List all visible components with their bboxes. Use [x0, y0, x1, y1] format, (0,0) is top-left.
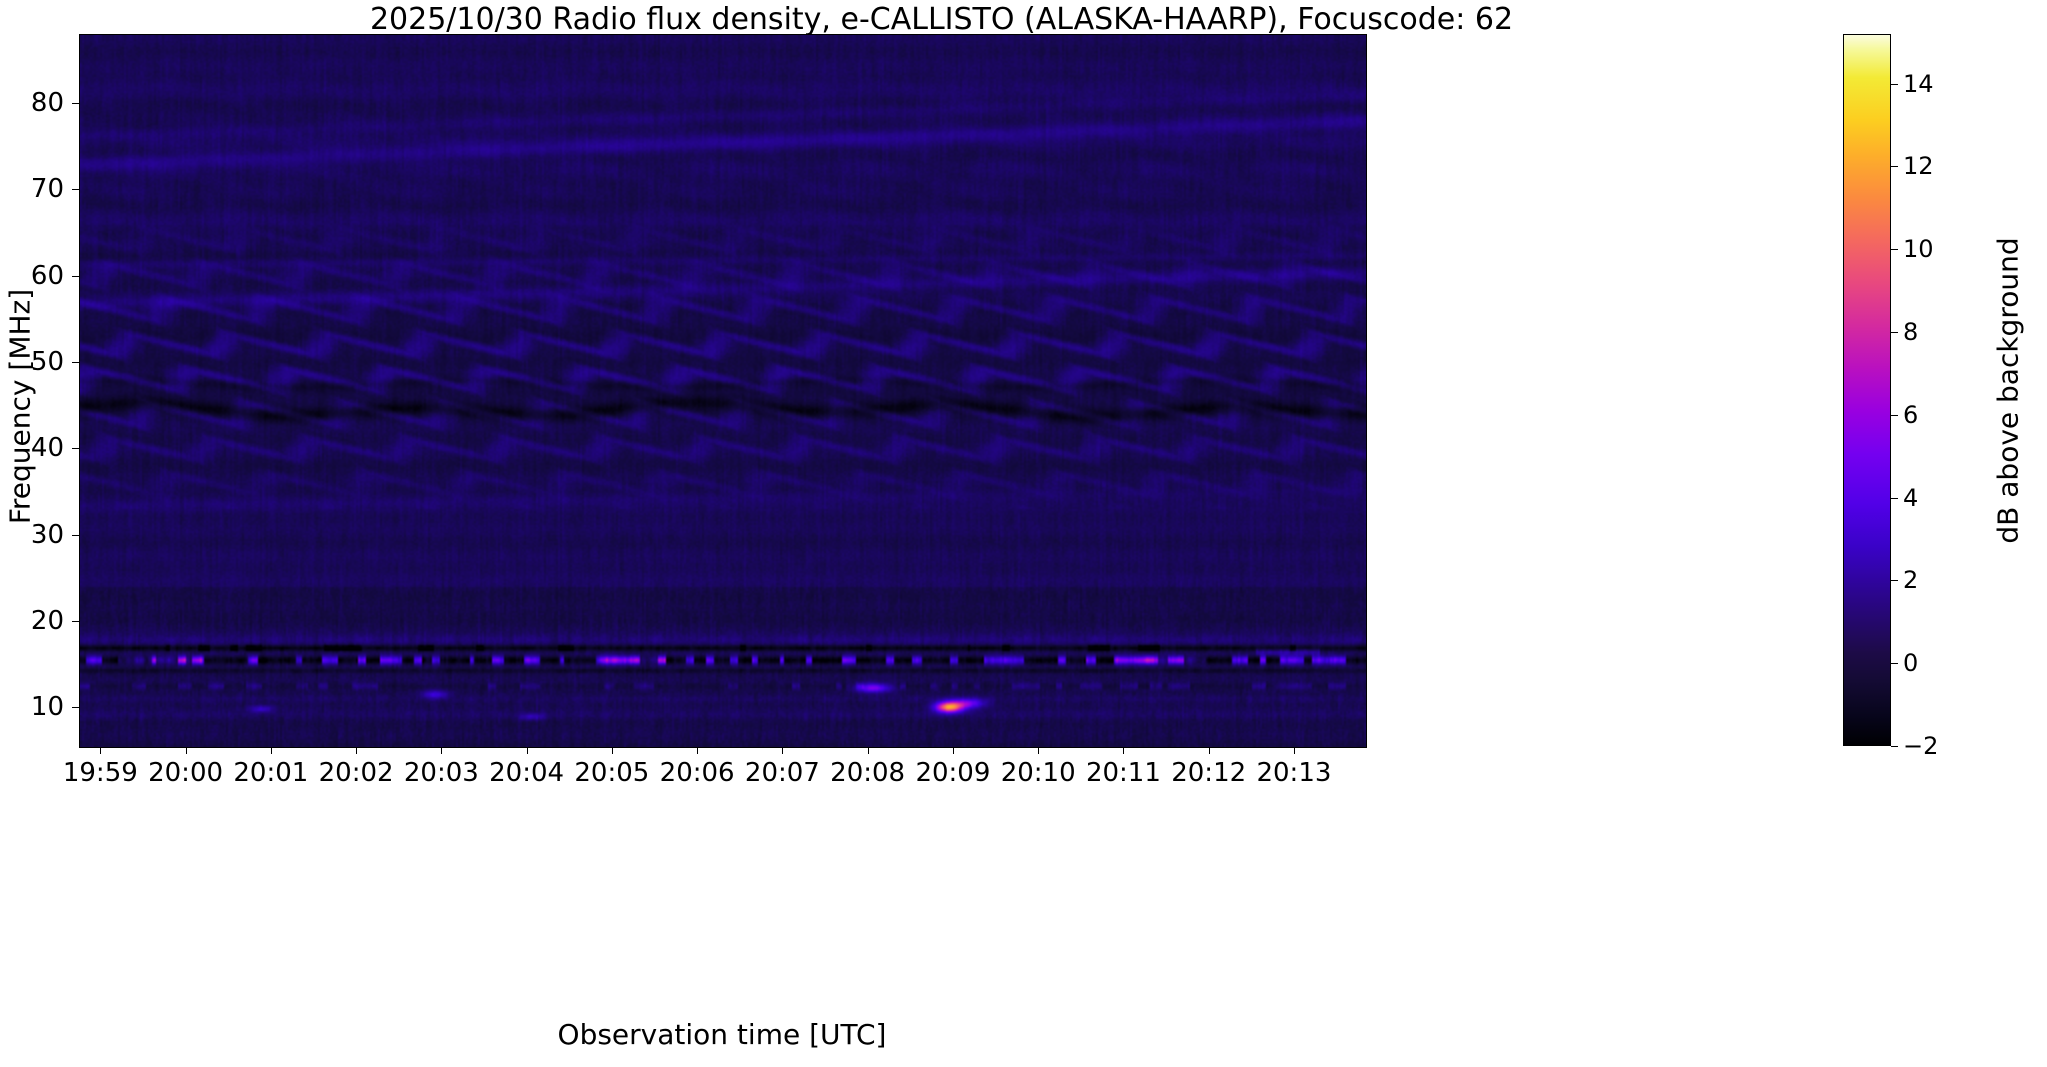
y-tick-mark	[72, 276, 79, 277]
y-tick-mark	[72, 535, 79, 536]
y-tick-label: 20	[0, 606, 64, 636]
y-tick-label: 40	[0, 433, 64, 463]
x-tick-label: 20:06	[660, 758, 735, 788]
colorbar-tick-label: 12	[1903, 152, 1934, 180]
x-tick-mark	[1123, 747, 1124, 754]
colorbar-tick-label: 0	[1903, 649, 1918, 677]
spectrogram-figure: 2025/10/30 Radio flux density, e-CALLIST…	[0, 0, 2047, 1067]
x-tick-mark	[527, 747, 528, 754]
colorbar-label: dB above background	[1992, 176, 2025, 606]
colorbar-tick-mark	[1891, 415, 1898, 416]
x-tick-label: 20:00	[148, 758, 223, 788]
x-tick-label: 20:03	[404, 758, 479, 788]
colorbar-tick-label: 2	[1903, 566, 1918, 594]
x-tick-label: 19:59	[63, 758, 138, 788]
x-tick-mark	[186, 747, 187, 754]
x-tick-label: 20:07	[745, 758, 820, 788]
colorbar-tick-mark	[1891, 580, 1898, 581]
colorbar-tick-mark	[1891, 166, 1898, 167]
x-tick-mark	[356, 747, 357, 754]
y-tick-label: 50	[0, 347, 64, 377]
x-tick-mark	[782, 747, 783, 754]
y-tick-mark	[72, 362, 79, 363]
y-tick-mark	[72, 621, 79, 622]
y-tick-label: 60	[0, 261, 64, 291]
colorbar-tick-mark	[1891, 498, 1898, 499]
x-tick-mark	[271, 747, 272, 754]
y-tick-label: 30	[0, 520, 64, 550]
x-tick-mark	[1038, 747, 1039, 754]
spectrogram-plot	[79, 34, 1367, 748]
x-tick-mark	[1294, 747, 1295, 754]
colorbar-tick-label: 6	[1903, 401, 1918, 429]
y-axis-label: Frequency [MHz]	[4, 257, 37, 557]
spectrogram-image	[80, 35, 1366, 747]
y-tick-label: 70	[0, 174, 64, 204]
y-tick-mark	[72, 103, 79, 104]
x-tick-label: 20:12	[1171, 758, 1246, 788]
y-tick-label: 10	[0, 692, 64, 722]
x-tick-mark	[100, 747, 101, 754]
y-tick-mark	[72, 707, 79, 708]
y-tick-label: 80	[0, 88, 64, 118]
x-tick-mark	[697, 747, 698, 754]
y-tick-mark	[72, 448, 79, 449]
colorbar-tick-label: −2	[1903, 732, 1938, 760]
colorbar: −202468101214 dB above background	[1843, 34, 1891, 746]
colorbar-tick-mark	[1891, 84, 1898, 85]
y-tick-mark	[72, 189, 79, 190]
x-tick-mark	[441, 747, 442, 754]
x-tick-label: 20:04	[489, 758, 564, 788]
x-tick-label: 20:08	[830, 758, 905, 788]
x-tick-label: 20:02	[319, 758, 394, 788]
colorbar-tick-label: 14	[1903, 70, 1934, 98]
colorbar-tick-mark	[1891, 663, 1898, 664]
colorbar-tick-mark	[1891, 746, 1898, 747]
x-axis-label: Observation time [UTC]	[79, 1018, 1365, 1051]
x-tick-label: 20:05	[574, 758, 649, 788]
colorbar-tick-label: 8	[1903, 318, 1918, 346]
colorbar-tick-mark	[1891, 332, 1898, 333]
x-tick-label: 20:09	[915, 758, 990, 788]
x-tick-mark	[868, 747, 869, 754]
x-tick-mark	[953, 747, 954, 754]
x-tick-label: 20:01	[233, 758, 308, 788]
figure-title: 2025/10/30 Radio flux density, e-CALLIST…	[79, 2, 1804, 37]
x-tick-label: 20:10	[1001, 758, 1076, 788]
colorbar-gradient	[1843, 34, 1891, 746]
colorbar-tick-label: 10	[1903, 235, 1934, 263]
x-tick-label: 20:11	[1086, 758, 1161, 788]
colorbar-tick-label: 4	[1903, 484, 1918, 512]
x-tick-mark	[1209, 747, 1210, 754]
x-tick-label: 20:13	[1256, 758, 1331, 788]
colorbar-tick-mark	[1891, 249, 1898, 250]
x-tick-mark	[612, 747, 613, 754]
